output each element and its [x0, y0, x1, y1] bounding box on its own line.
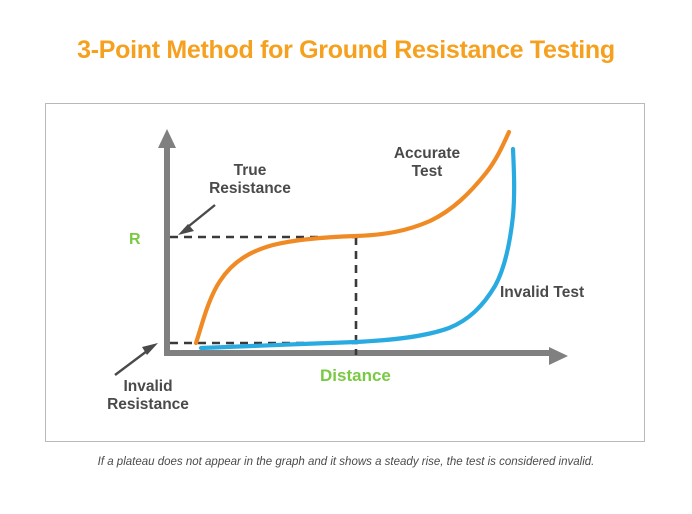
true-resistance-label-line1: True	[190, 162, 310, 180]
accurate-test-label: Accurate Test	[372, 145, 482, 181]
x-axis	[164, 347, 568, 365]
invalid-resistance-label-line1: Invalid	[78, 378, 218, 396]
accurate-test-label-line1: Accurate	[372, 145, 482, 163]
y-axis-label: R	[129, 231, 141, 249]
accurate-test-label-line2: Test	[372, 163, 482, 181]
invalid-resistance-label-line2: Resistance	[78, 396, 218, 414]
true-resistance-callout-arrow	[178, 205, 215, 235]
invalid-resistance-callout-arrow	[115, 343, 158, 375]
page-title: 3-Point Method for Ground Resistance Tes…	[0, 36, 692, 65]
x-axis-label: Distance	[320, 366, 391, 386]
invalid-resistance-label: Invalid Resistance	[78, 378, 218, 414]
invalid-test-label: Invalid Test	[500, 284, 584, 302]
figure-caption: If a plateau does not appear in the grap…	[0, 456, 692, 468]
page-root: 3-Point Method for Ground Resistance Tes…	[0, 0, 692, 514]
true-resistance-label-line2: Resistance	[190, 180, 310, 198]
y-axis	[158, 129, 176, 356]
true-resistance-label: True Resistance	[190, 162, 310, 198]
